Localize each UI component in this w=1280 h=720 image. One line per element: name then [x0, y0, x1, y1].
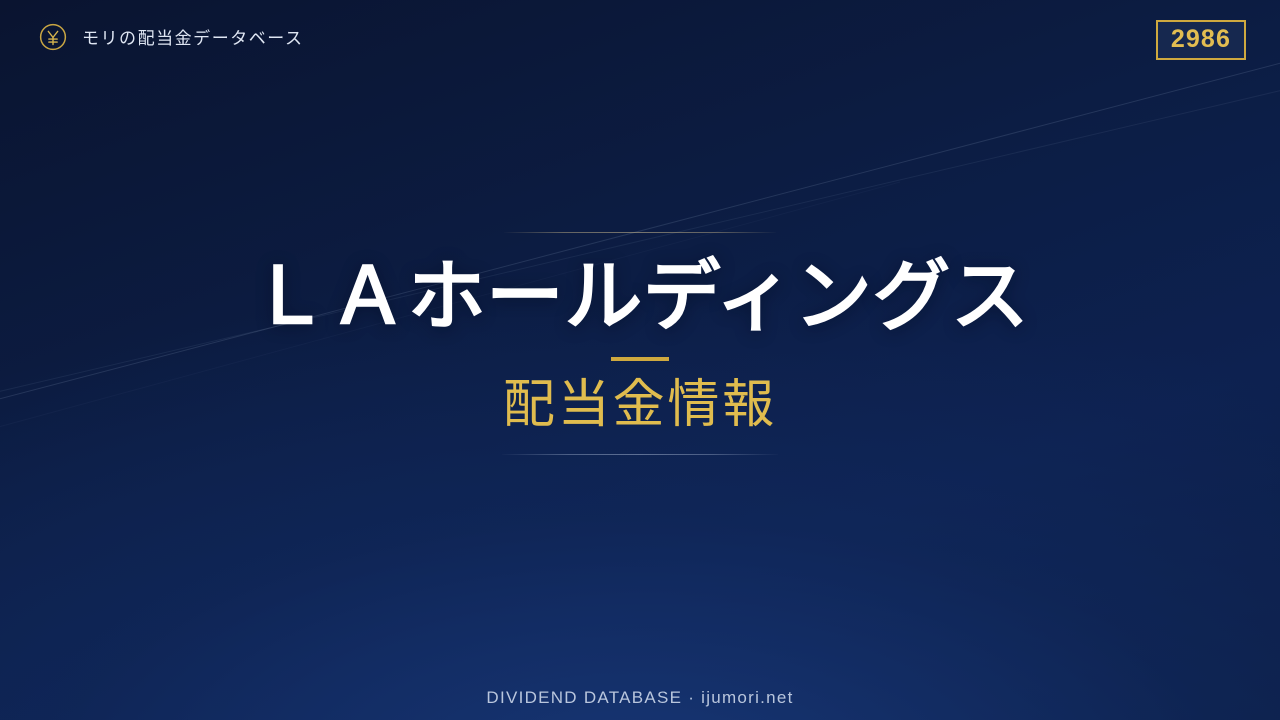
- hero-block: ＬＡホールディングス 配当金情報: [0, 232, 1280, 455]
- hero-rule-top: [504, 232, 776, 233]
- footer-attribution: DIVIDEND DATABASE · ijumori.net: [0, 688, 1280, 708]
- brand[interactable]: モリの配当金データベース: [38, 22, 304, 52]
- brand-name: モリの配当金データベース: [82, 28, 304, 47]
- site-header: モリの配当金データベース 2986: [0, 0, 1280, 92]
- yen-circle-icon: [38, 22, 68, 52]
- gold-divider-icon: [611, 357, 669, 361]
- hero-rule-bottom: [502, 454, 778, 455]
- site-footer: DIVIDEND DATABASE · ijumori.net: [0, 688, 1280, 708]
- section-label: 配当金情報: [0, 375, 1280, 435]
- ticker-code-badge: 2986: [1156, 20, 1246, 60]
- title-card: モリの配当金データベース 2986 ＬＡホールディングス 配当金情報 DIVID…: [0, 0, 1280, 720]
- company-name: ＬＡホールディングス: [0, 253, 1280, 340]
